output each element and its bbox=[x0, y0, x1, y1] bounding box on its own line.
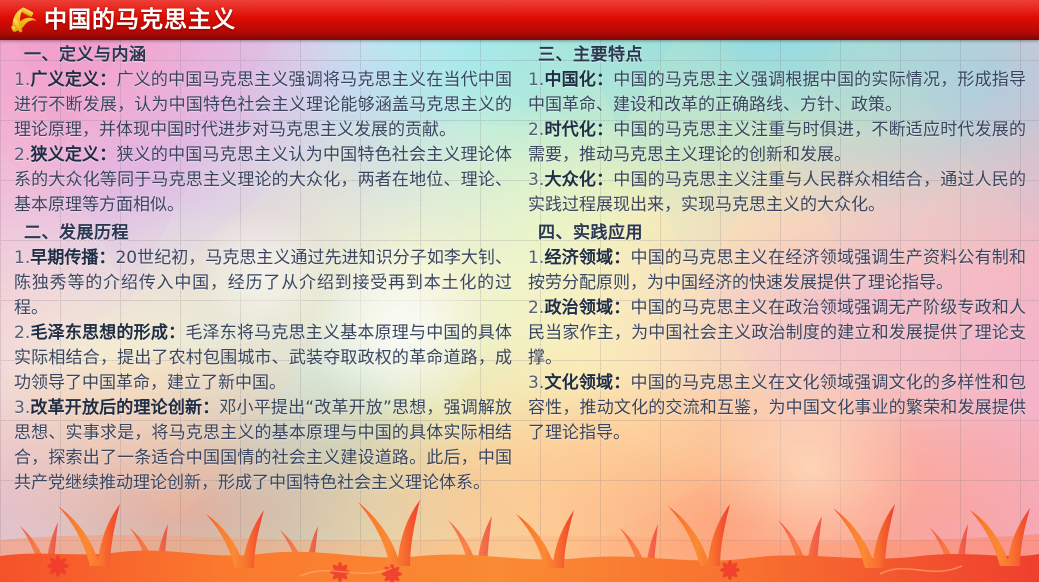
section-item: 2.毛泽东思想的形成：毛泽东将马克思主义基本原理与中国的具体实际相结合，提出了农… bbox=[14, 321, 512, 396]
item-label: 狭义定义 bbox=[30, 145, 99, 165]
item-label: 中国化 bbox=[544, 70, 596, 90]
item-label: 时代化 bbox=[544, 120, 596, 140]
item-label: 广义定义 bbox=[30, 70, 99, 90]
item-number: 3. bbox=[528, 373, 544, 393]
item-colon: ： bbox=[99, 145, 116, 165]
item-colon: ： bbox=[596, 170, 613, 190]
item-number: 1. bbox=[14, 70, 30, 90]
section-item: 1.中国化：中国的马克思主义强调根据中国的实际情况，形成指导中国革命、建设和改革… bbox=[528, 68, 1026, 118]
item-number: 2. bbox=[528, 120, 544, 140]
section-title: 四、实践应用 bbox=[538, 221, 1026, 245]
item-label: 早期传播 bbox=[30, 248, 98, 268]
item-label: 改革开放后的理论创新 bbox=[30, 398, 202, 418]
item-colon: ： bbox=[613, 373, 630, 393]
section-item: 3.大众化：中国的马克思主义注重与人民群众相结合，通过人民的实践过程展现出来，实… bbox=[528, 168, 1026, 218]
section-title: 三、主要特点 bbox=[538, 43, 1026, 67]
item-colon: ： bbox=[202, 398, 219, 418]
item-number: 3. bbox=[528, 170, 544, 190]
section: 二、发展历程1.早期传播：20世纪初，马克思主义通过先进知识分子如李大钊、陈独秀… bbox=[14, 221, 512, 496]
item-colon: ： bbox=[613, 298, 630, 318]
section-title: 一、定义与内涵 bbox=[24, 43, 512, 67]
section-title: 二、发展历程 bbox=[24, 221, 512, 245]
hammer-and-sickle-icon bbox=[8, 3, 42, 37]
item-label: 文化领域 bbox=[544, 373, 613, 393]
item-colon: ： bbox=[596, 70, 613, 90]
section-item: 1.早期传播：20世纪初，马克思主义通过先进知识分子如李大钊、陈独秀等的介绍传入… bbox=[14, 246, 512, 321]
section: 一、定义与内涵1.广义定义：广义的中国马克思主义强调将马克思主义在当代中国进行不… bbox=[14, 43, 512, 218]
item-number: 2. bbox=[14, 323, 30, 343]
section-item: 3.文化领域：中国的马克思主义在文化领域强调文化的多样性和包容性，推动文化的交流… bbox=[528, 371, 1026, 446]
section: 三、主要特点1.中国化：中国的马克思主义强调根据中国的实际情况，形成指导中国革命… bbox=[528, 43, 1026, 218]
right-column: 三、主要特点1.中国化：中国的马克思主义强调根据中国的实际情况，形成指导中国革命… bbox=[528, 40, 1026, 448]
item-label: 经济领域 bbox=[544, 248, 613, 268]
slide-body: 一、定义与内涵1.广义定义：广义的中国马克思主义强调将马克思主义在当代中国进行不… bbox=[0, 40, 1039, 582]
item-number: 1. bbox=[528, 70, 544, 90]
item-colon: ： bbox=[98, 248, 115, 268]
item-label: 政治领域 bbox=[544, 298, 613, 318]
page-title: 中国的马克思主义 bbox=[44, 7, 236, 34]
title-bar: 中国的马克思主义 bbox=[0, 0, 1039, 40]
section-item: 1.广义定义：广义的中国马克思主义强调将马克思主义在当代中国进行不断发展，认为中… bbox=[14, 68, 512, 143]
section: 四、实践应用1.经济领域：中国的马克思主义在经济领域强调生产资料公有制和按劳分配… bbox=[528, 221, 1026, 446]
item-colon: ： bbox=[596, 120, 613, 140]
item-number: 1. bbox=[528, 248, 544, 268]
slide-canvas: 中国的马克思主义 一、定义与内涵1.广义定义：广义的中国马克思主义强调将马克思主… bbox=[0, 0, 1039, 582]
left-column: 一、定义与内涵1.广义定义：广义的中国马克思主义强调将马克思主义在当代中国进行不… bbox=[14, 40, 512, 498]
section-item: 1.经济领域：中国的马克思主义在经济领域强调生产资料公有制和按劳分配原则，为中国… bbox=[528, 246, 1026, 296]
section-item: 2.狭义定义：狭义的中国马克思主义认为中国特色社会主义理论体系的大众化等同于马克… bbox=[14, 143, 512, 218]
item-colon: ： bbox=[168, 323, 185, 343]
item-colon: ： bbox=[613, 248, 630, 268]
item-number: 3. bbox=[14, 398, 30, 418]
item-label: 大众化 bbox=[544, 170, 596, 190]
item-number: 2. bbox=[528, 298, 544, 318]
item-number: 1. bbox=[14, 248, 30, 268]
section-item: 2.时代化：中国的马克思主义注重与时俱进，不断适应时代发展的需要，推动马克思主义… bbox=[528, 118, 1026, 168]
item-colon: ： bbox=[99, 70, 116, 90]
section-item: 3.改革开放后的理论创新：邓小平提出“改革开放”思想，强调解放思想、实事求是，将… bbox=[14, 396, 512, 496]
item-number: 2. bbox=[14, 145, 30, 165]
item-label: 毛泽东思想的形成 bbox=[30, 323, 168, 343]
section-item: 2.政治领域：中国的马克思主义在政治领域强调无产阶级专政和人民当家作主，为中国社… bbox=[528, 296, 1026, 371]
